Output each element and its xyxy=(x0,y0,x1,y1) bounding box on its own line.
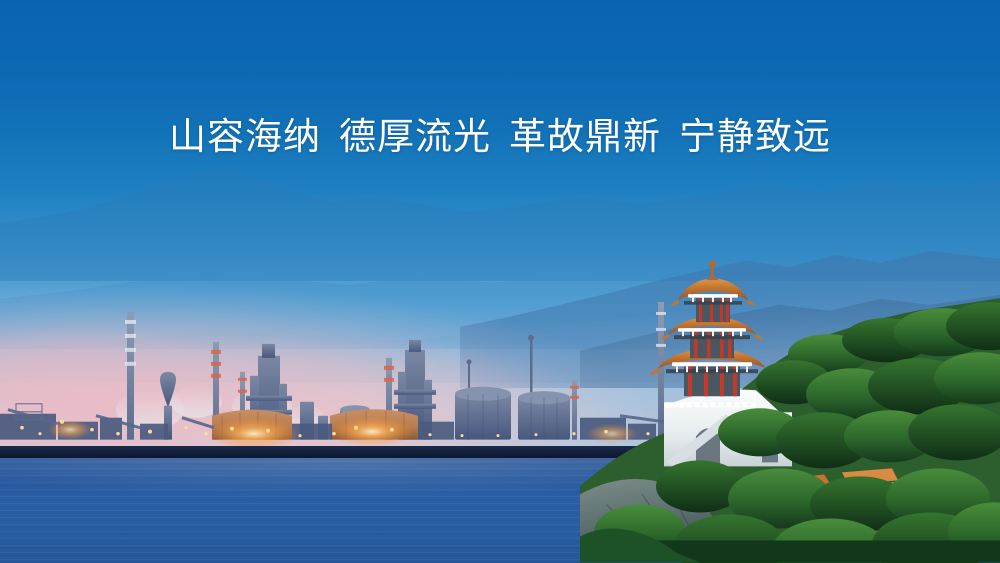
pagoda-rail-middle xyxy=(678,329,746,337)
pagoda-tier-middle xyxy=(661,317,763,359)
headline-segment-4: 宁静致远 xyxy=(679,116,831,157)
pagoda-hill xyxy=(580,236,1000,563)
chimney-striped-c xyxy=(570,380,579,440)
banner-headline: 山容海纳德厚流光革故鼎新宁静致远 xyxy=(0,118,1000,155)
headline-segment-1: 山容海纳 xyxy=(169,116,321,157)
headline-segment-3: 革故鼎新 xyxy=(509,116,661,157)
pagoda-rail-top xyxy=(688,295,738,303)
foliage xyxy=(580,303,1000,563)
pagoda-tier-top xyxy=(671,261,755,323)
pagoda-finial xyxy=(706,261,719,281)
banner-image: 山容海纳德厚流光革故鼎新宁静致远 xyxy=(0,0,1000,563)
headline-segment-2: 德厚流光 xyxy=(339,116,491,157)
